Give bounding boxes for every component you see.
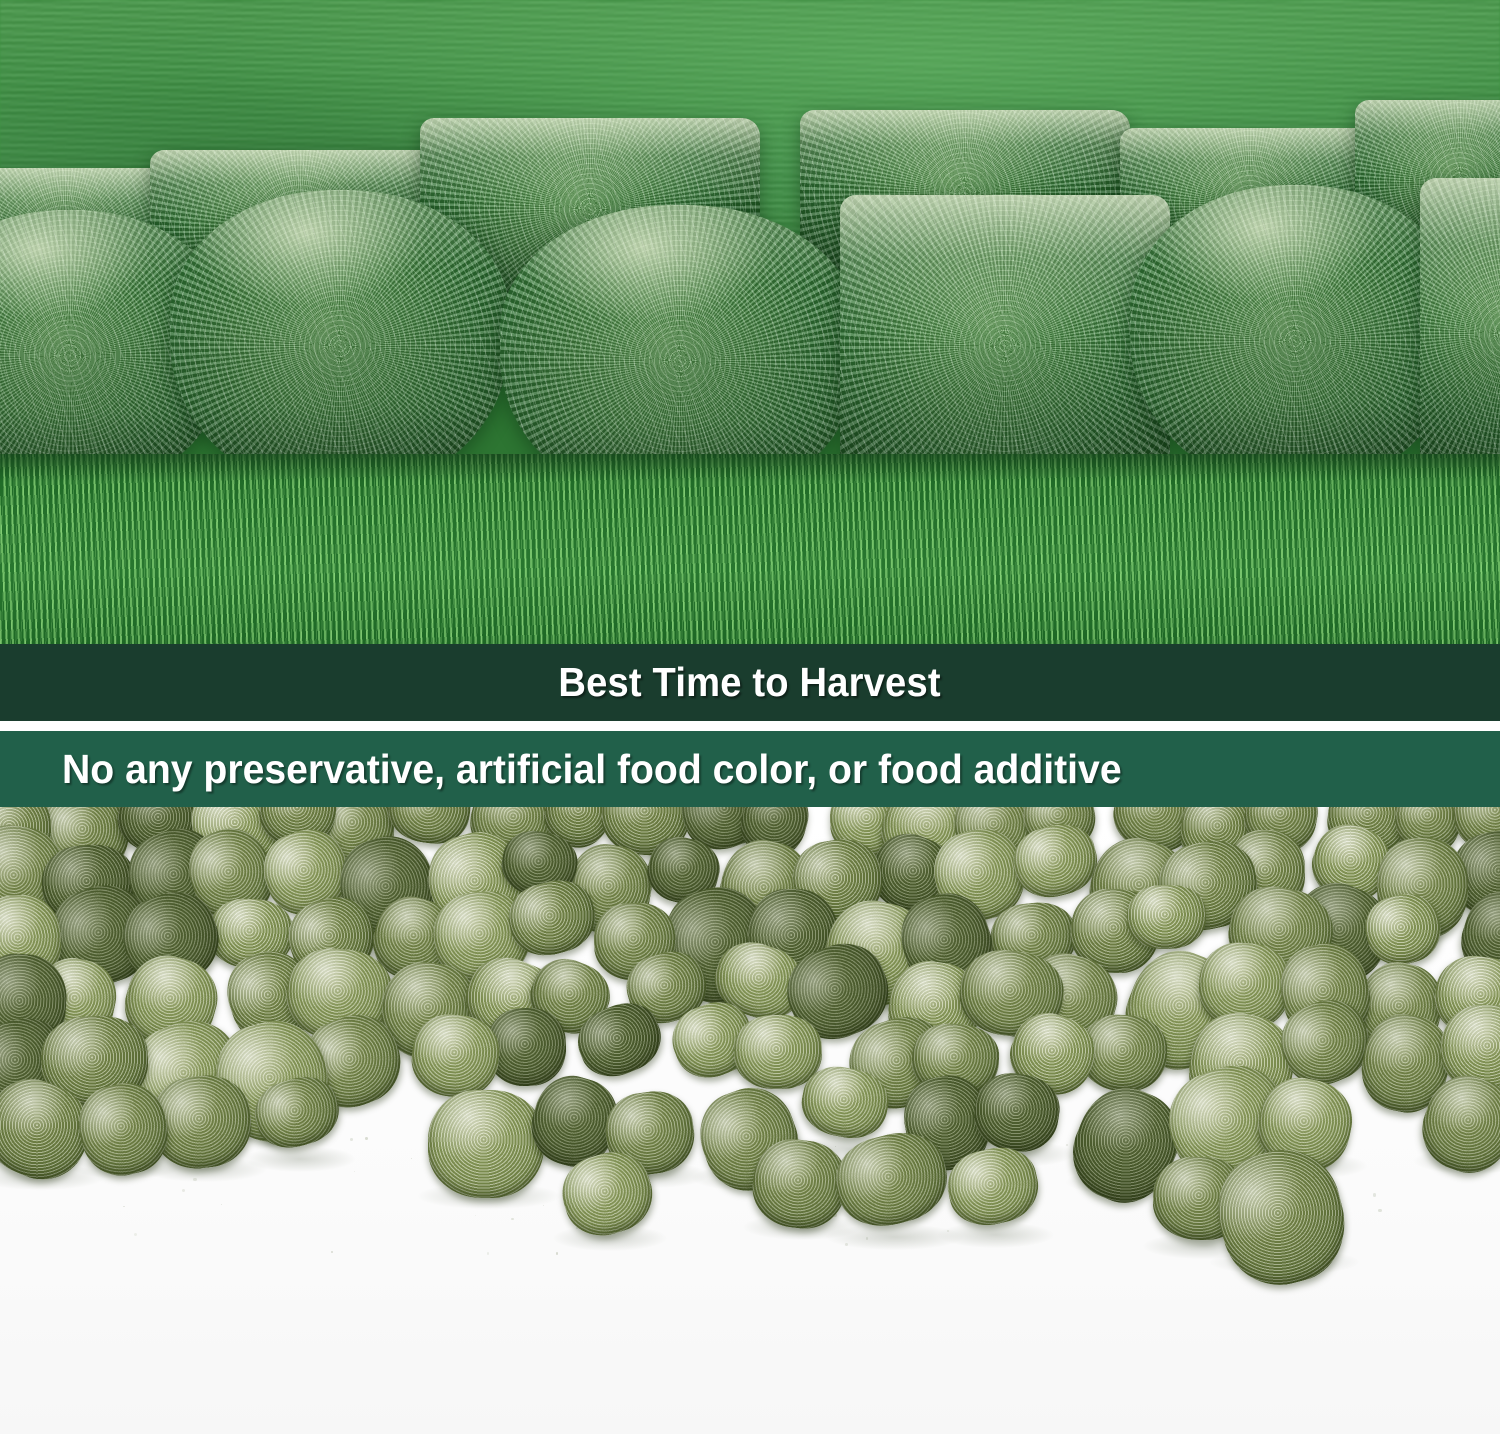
subline-text: No any preservative, artificial food col…	[62, 746, 1122, 793]
band-separator	[0, 721, 1500, 731]
hay-bales-field-photo	[0, 0, 1500, 644]
infographic-page: Best Time to Harvest No any preservative…	[0, 0, 1500, 1434]
subline-band: No any preservative, artificial food col…	[0, 731, 1500, 807]
hay-bale	[1130, 185, 1460, 485]
headline-band: Best Time to Harvest	[0, 644, 1500, 721]
pellet-shadow	[245, 1146, 355, 1172]
hay-bale	[840, 195, 1170, 485]
foreground-grass	[0, 454, 1500, 644]
pellet-pile	[0, 807, 1500, 1277]
hay-pellet	[428, 1090, 545, 1198]
hay-bale	[170, 190, 510, 490]
headline-text: Best Time to Harvest	[559, 659, 941, 706]
pellet-shadow	[938, 1222, 1054, 1248]
hay-pellet	[1126, 884, 1207, 951]
alfalfa-pellets-photo	[0, 807, 1500, 1434]
hay-bale	[1420, 178, 1500, 478]
